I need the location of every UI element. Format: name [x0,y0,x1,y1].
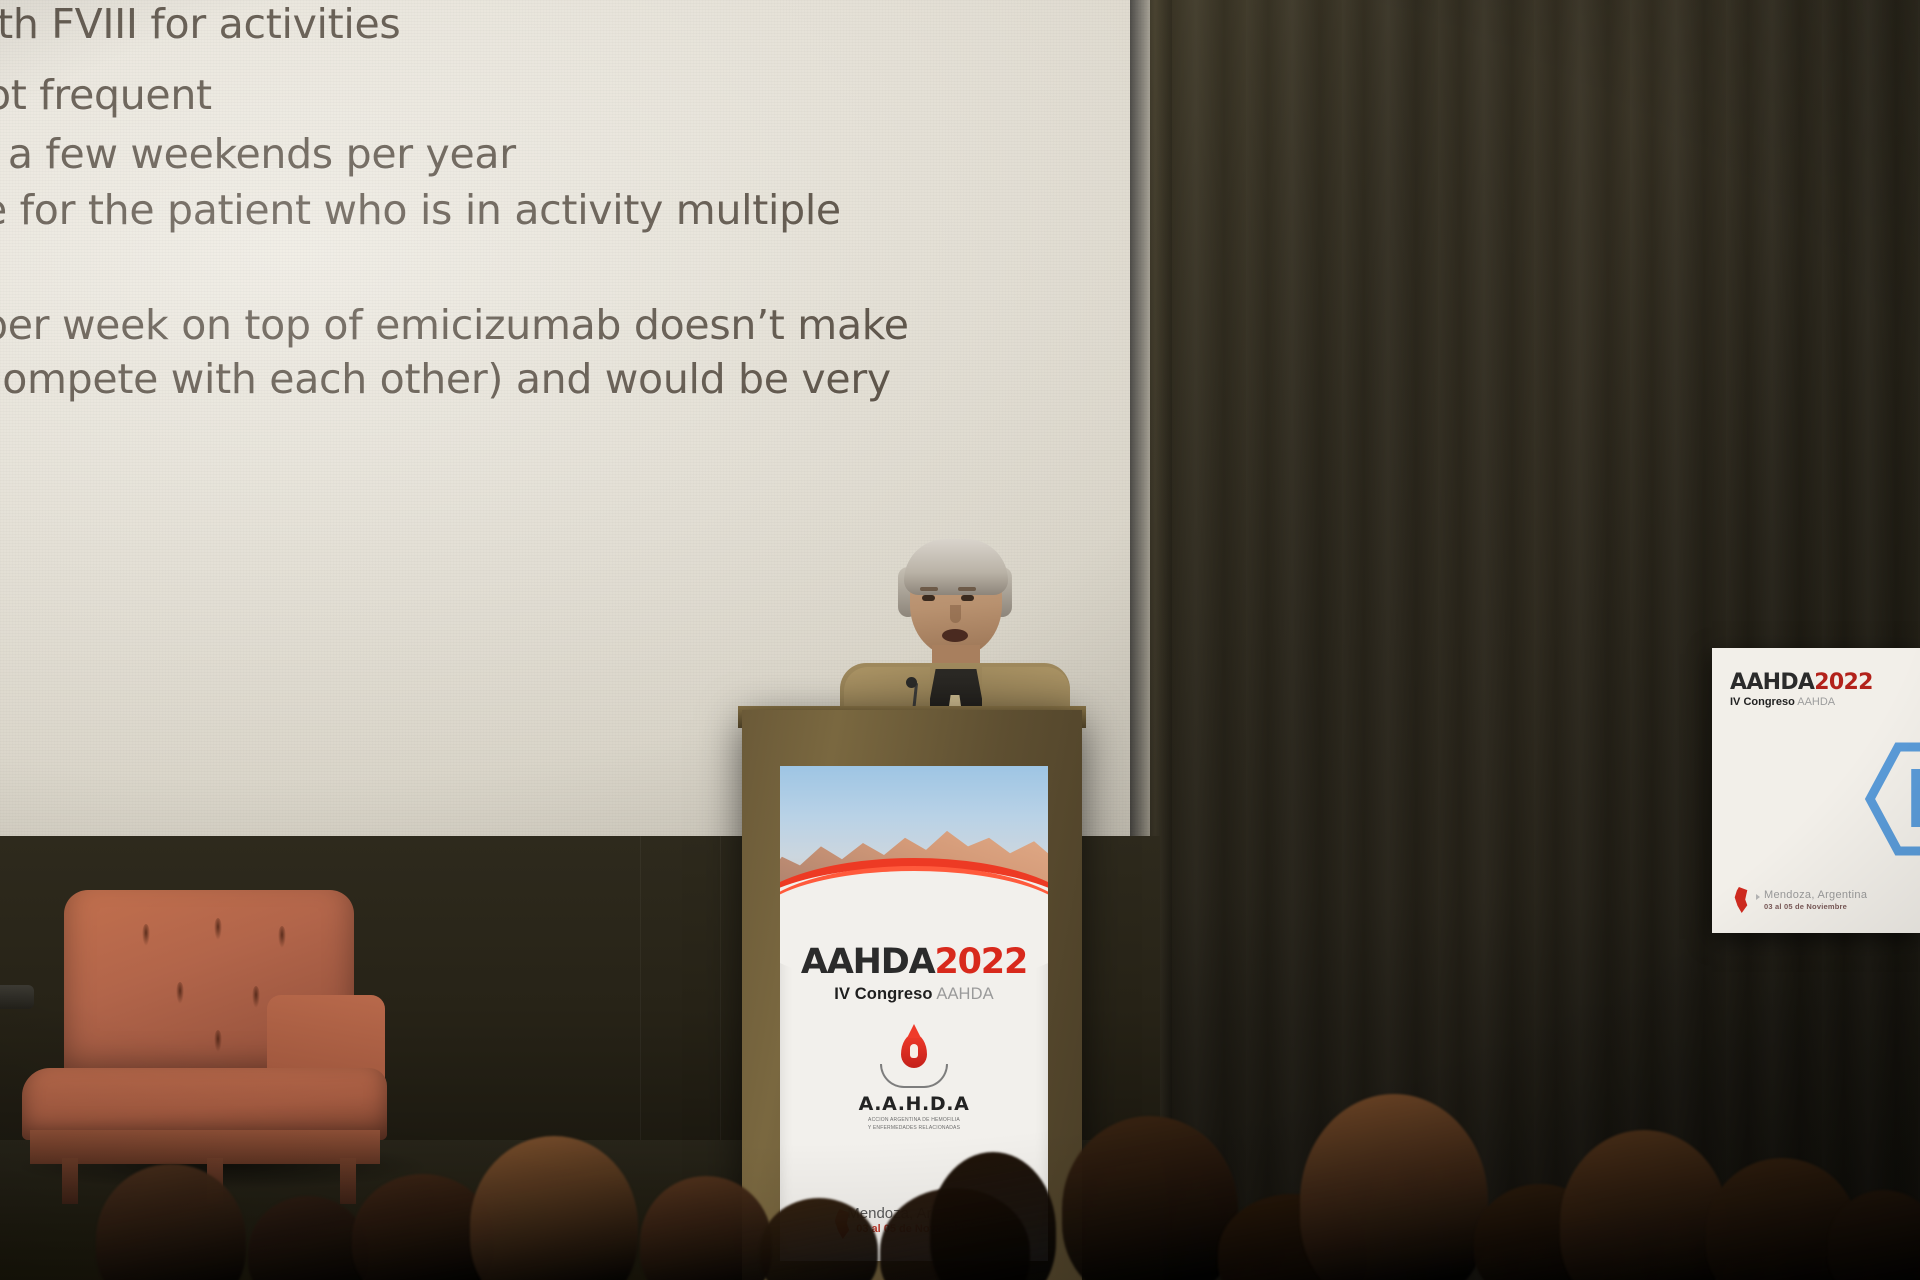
sign-subtitle-light: AAHDA [1797,696,1835,708]
sign-subtitle-bold: IV Congreso [1730,696,1795,708]
org-name: A.A.H.D.A [780,1093,1048,1115]
sign-marker-icon [1756,894,1760,900]
banner-subtitle-bold: IV Congreso [834,985,932,1003]
banner-footer-city: Mendoza, Argentina [780,1205,1048,1222]
blood-drop-icon [901,1034,927,1068]
slide-line-2: ot frequent [0,75,212,116]
sign-footer-date: 03 al 05 de Noviembre [1764,902,1867,911]
podium-banner-footer: Mendoza, Argentina 03 al 05 de Noviembre [780,1205,1048,1235]
slide-line-5: per week on top of emicizumab doesn’t ma… [0,305,909,346]
sign-footer-city: Mendoza, Argentina [1764,889,1867,901]
side-sign: AAHDA2022 IV Congreso AAHDA R Mendoza, A… [1712,648,1920,933]
side-sign-logo: AAHDA2022 IV Congreso AAHDA [1730,670,1873,708]
side-sign-footer: Mendoza, Argentina 03 al 05 de Noviembre [1764,889,1867,911]
stage-curtain [1150,0,1920,1280]
slide-line-4: e for the patient who is in activity mul… [0,190,841,231]
curtain-shadow [1150,0,1920,1280]
microphone-icon [906,677,917,688]
sign-logo-year: 2022 [1814,670,1872,695]
hexagon-r-icon: R [1862,741,1920,857]
banner-subtitle-light: AAHDA [936,985,993,1003]
slide-line-1: ith FVIII for activities [0,4,400,45]
armchair [22,890,412,1180]
armchair-arm-left [44,998,174,1076]
svg-text:R: R [1906,751,1920,845]
slide-line-6: compete with each other) and would be ve… [0,359,891,400]
sign-mendoza-map-icon [1734,887,1748,913]
podium-banner: AAHDA2022 IV Congreso AAHDA A.A.H.D.A AC… [780,766,1048,1261]
conference-photo-scene: ith FVIII for activities ot frequent i a… [0,0,1920,1280]
banner-logo-year: 2022 [934,942,1027,982]
banner-logo-name: AAHDA [801,942,935,982]
banner-footer-date: 03 al 05 de Noviembre [780,1223,1048,1235]
podium: AAHDA2022 IV Congreso AAHDA A.A.H.D.A AC… [742,710,1082,1280]
aahda-org-mark: A.A.H.D.A ACCION ARGENTINA DE HEMOFILIA … [780,1034,1048,1132]
org-tagline-line2: Y ENFERMEDADES RELACIONADAS [780,1125,1048,1133]
org-tagline-line1: ACCION ARGENTINA DE HEMOFILIA [780,1117,1048,1125]
slide-line-3: i a few weekends per year [0,134,516,175]
podium-banner-logo: AAHDA2022 IV Congreso AAHDA [780,942,1048,1004]
sign-logo-name: AAHDA [1730,670,1814,695]
